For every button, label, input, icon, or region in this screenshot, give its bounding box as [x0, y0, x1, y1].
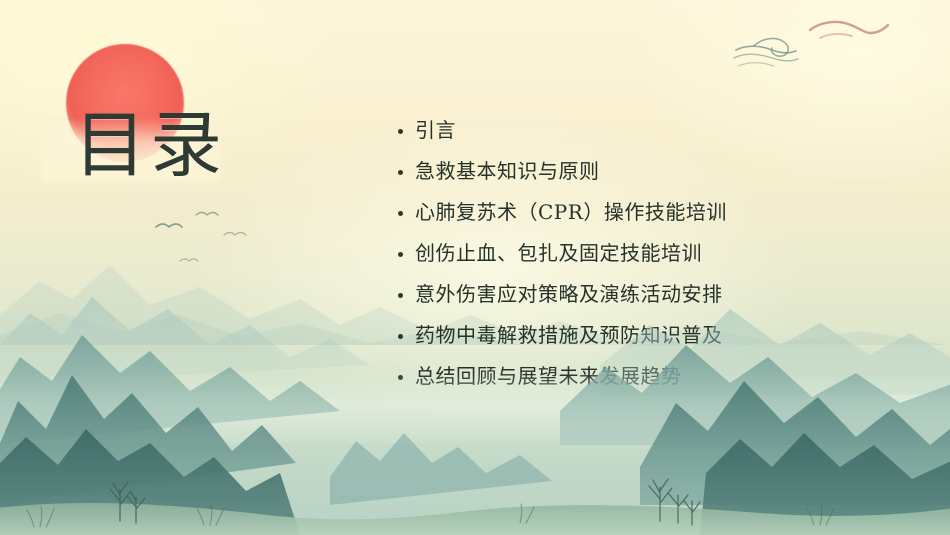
toc-item-label: 心肺复苏术（CPR）操作技能培训 [415, 200, 727, 225]
list-item[interactable]: 心肺复苏术（CPR）操作技能培训 [398, 200, 898, 225]
toc-item-label: 引言 [415, 118, 456, 143]
bullet-dot-icon [398, 375, 403, 380]
bullet-dot-icon [398, 129, 403, 134]
toc-item-label: 急救基本知识与原则 [415, 159, 600, 184]
bullet-dot-icon [398, 252, 403, 257]
toc-item-label: 创伤止血、包扎及固定技能培训 [415, 241, 702, 266]
list-item[interactable]: 意外伤害应对策略及演练活动安排 [398, 282, 898, 307]
bullet-dot-icon [398, 334, 403, 339]
bullet-dot-icon [398, 170, 403, 175]
toc-item-label: 意外伤害应对策略及演练活动安排 [415, 282, 723, 307]
bullet-dot-icon [398, 293, 403, 298]
table-of-contents-list: 引言 急救基本知识与原则 心肺复苏术（CPR）操作技能培训 创伤止血、包扎及固定… [398, 118, 898, 389]
list-item[interactable]: 药物中毒解救措施及预防知识普及 [398, 323, 898, 348]
slide-canvas: 目录 引言 急救基本知识与原则 心肺复苏术（CPR）操作技能培训 创伤止血、包扎… [0, 0, 950, 535]
list-item[interactable]: 急救基本知识与原则 [398, 159, 898, 184]
page-title: 目录 [74, 108, 226, 184]
list-item[interactable]: 引言 [398, 118, 898, 143]
list-item[interactable]: 创伤止血、包扎及固定技能培训 [398, 241, 898, 266]
toc-item-label: 药物中毒解救措施及预防知识普及 [415, 323, 723, 348]
flying-birds-icon [150, 205, 300, 285]
cloud-swirl-ornament-icon [732, 16, 892, 78]
bullet-dot-icon [398, 211, 403, 216]
list-item[interactable]: 总结回顾与展望未来发展趋势 [398, 364, 898, 389]
toc-item-label: 总结回顾与展望未来发展趋势 [415, 364, 682, 389]
